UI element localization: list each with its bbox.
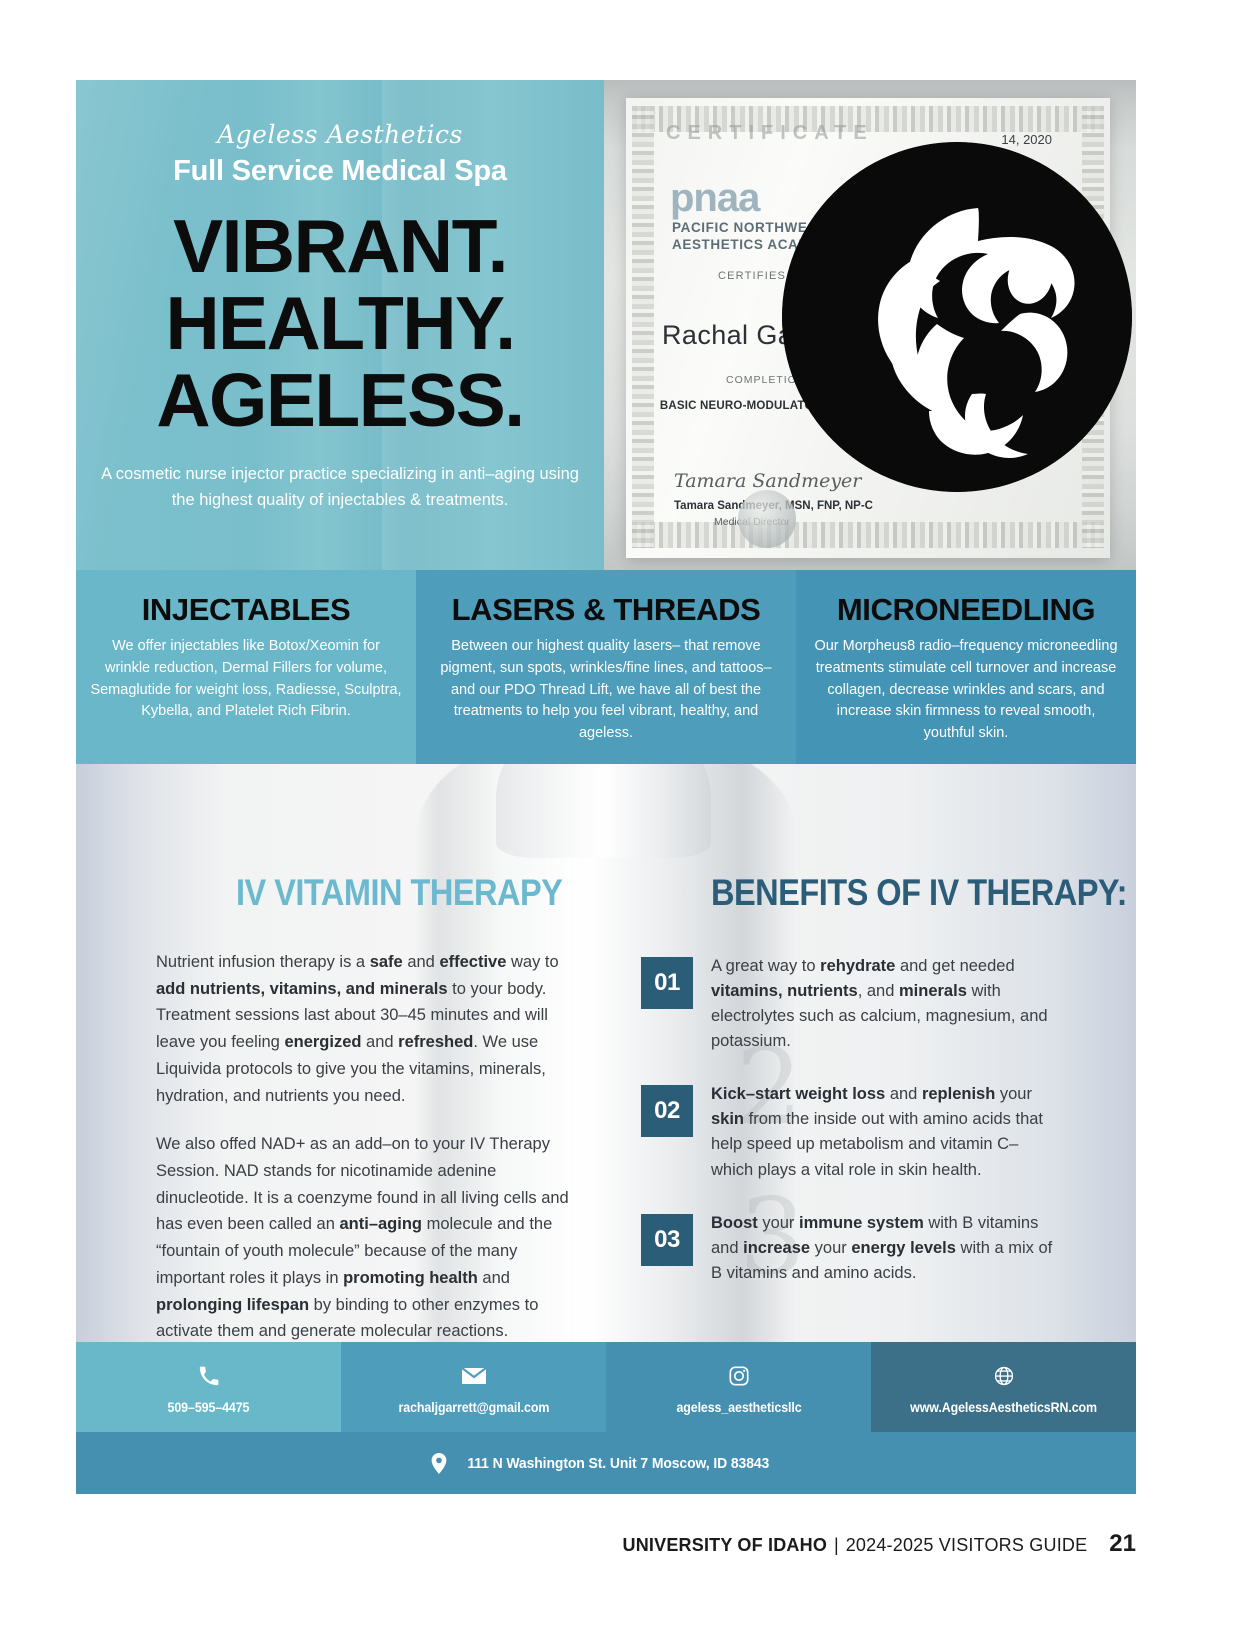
email-address: rachaljgarrett@gmail.com — [398, 1400, 549, 1415]
phone-icon — [198, 1364, 220, 1388]
benefits-heading: BENEFITS OF IV THERAPY: — [711, 872, 1127, 914]
contact-instagram[interactable]: ageless_aestheticsllc — [606, 1342, 871, 1432]
hero-description: A cosmetic nurse injector practice speci… — [98, 462, 582, 513]
iv-therapy-section: IV VITAMIN THERAPY BENEFITS OF IV THERAP… — [76, 764, 1136, 1342]
service-lasers-threads: LASERS & THREADS Between our highest qua… — [416, 570, 796, 764]
iv-therapy-heading: IV VITAMIN THERAPY — [236, 872, 562, 914]
brand-name: Ageless Aesthetics — [98, 120, 582, 149]
certificate-seal — [738, 490, 796, 548]
service-title: INJECTABLES — [90, 592, 402, 628]
certificate-logo: pnaa — [670, 176, 759, 221]
ageless-aesthetics-logo — [782, 142, 1132, 492]
page-number: 21 — [1109, 1530, 1136, 1558]
address-bar: 111 N Washington St. Unit 7 Moscow, ID 8… — [76, 1432, 1136, 1494]
location-pin-icon — [431, 1453, 447, 1474]
iv-therapy-description: Nutrient infusion therapy is a safe and … — [156, 949, 576, 1342]
benefit-number-badge: 03 — [641, 1214, 693, 1266]
headline: VIBRANT. HEALTHY. AGELESS. — [98, 210, 582, 436]
contact-website[interactable]: www.AgelessAestheticsRN.com — [871, 1342, 1136, 1432]
brand-subtitle: Full Service Medical Spa — [98, 155, 582, 188]
certificate-title: CERTIFICATE — [666, 122, 874, 145]
instagram-handle: ageless_aestheticsllc — [676, 1400, 801, 1415]
benefit-item: 02 Kick–start weight loss and replenish … — [641, 1082, 1061, 1182]
service-body: Between our highest quality lasers– that… — [430, 636, 782, 745]
certificate-border-left — [632, 106, 654, 548]
phone-number: 509–595–4475 — [168, 1400, 250, 1415]
headline-line-2: HEALTHY. — [98, 287, 582, 360]
globe-icon — [993, 1364, 1015, 1388]
benefits-list: 01 A great way to rehydrate and get need… — [641, 954, 1061, 1314]
contact-bar: 509–595–4475 rachaljgarrett@gmail.com — [76, 1342, 1136, 1432]
service-body: We offer injectables like Botox/Xeomin f… — [90, 636, 402, 723]
service-title: LASERS & THREADS — [430, 592, 782, 628]
service-microneedling: MICRONEEDLING Our Morpheus8 radio–freque… — [796, 570, 1136, 764]
woman-silhouette-icon — [782, 142, 1132, 492]
footer-separator: | — [834, 1535, 839, 1556]
headline-line-1: VIBRANT. — [98, 210, 582, 283]
certificate-date: 14, 2020 — [1001, 132, 1052, 147]
services-row: INJECTABLES We offer injectables like Bo… — [76, 570, 1136, 764]
certificate-border-bottom — [632, 522, 1104, 548]
advertisement: Ageless Aesthetics Full Service Medical … — [76, 80, 1136, 1494]
certificate-signature: Tamara Sandmeyer — [674, 470, 861, 492]
envelope-icon — [461, 1364, 487, 1388]
iv-paragraph-1: Nutrient infusion therapy is a safe and … — [156, 949, 576, 1109]
contact-email[interactable]: rachaljgarrett@gmail.com — [341, 1342, 606, 1432]
publication-name: UNIVERSITY OF IDAHO — [623, 1535, 828, 1556]
service-injectables: INJECTABLES We offer injectables like Bo… — [76, 570, 416, 764]
benefit-item: 01 A great way to rehydrate and get need… — [641, 954, 1061, 1054]
headline-line-3: AGELESS. — [98, 364, 582, 437]
benefit-text: Kick–start weight loss and replenish you… — [711, 1082, 1061, 1182]
page-footer: UNIVERSITY OF IDAHO | 2024-2025 VISITORS… — [623, 1530, 1136, 1558]
certificate-certifies-label: CERTIFIES — [718, 270, 786, 282]
benefit-number-badge: 01 — [641, 957, 693, 1009]
benefit-item: 03 Boost your immune system with B vitam… — [641, 1211, 1061, 1286]
instagram-icon — [728, 1364, 750, 1388]
iv-paragraph-2: We also offed NAD+ as an add–on to your … — [156, 1131, 576, 1342]
benefit-text: A great way to rehydrate and get needed … — [711, 954, 1061, 1054]
benefit-text: Boost your immune system with B vitamins… — [711, 1211, 1061, 1286]
benefit-number-badge: 02 — [641, 1085, 693, 1137]
magazine-page: Ageless Aesthetics Full Service Medical … — [0, 0, 1256, 1631]
website-url: www.AgelessAestheticsRN.com — [910, 1400, 1097, 1415]
certificate-photo: CERTIFICATE pnaa PACIFIC NORTHWEST AESTH… — [604, 80, 1136, 570]
service-title: MICRONEEDLING — [810, 592, 1122, 628]
address-text: 111 N Washington St. Unit 7 Moscow, ID 8… — [468, 1455, 770, 1472]
hero-section: Ageless Aesthetics Full Service Medical … — [76, 80, 1136, 570]
publication-edition: 2024-2025 VISITORS GUIDE — [846, 1535, 1088, 1556]
hero-text-panel: Ageless Aesthetics Full Service Medical … — [76, 80, 604, 570]
contact-phone[interactable]: 509–595–4475 — [76, 1342, 341, 1432]
service-body: Our Morpheus8 radio–frequency microneedl… — [810, 636, 1122, 745]
